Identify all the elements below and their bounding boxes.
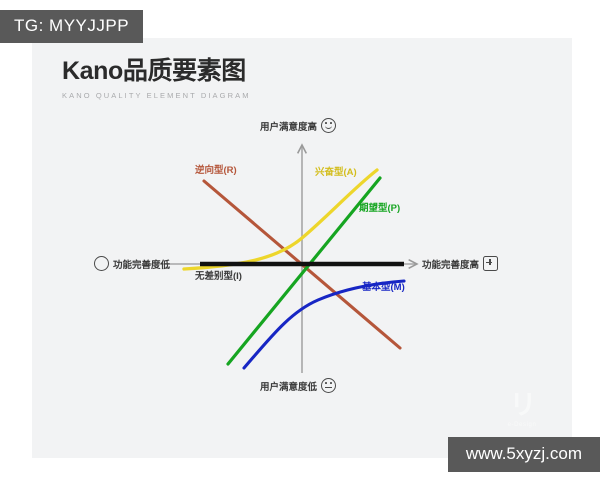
axis-label-satisfaction-high: 用户满意度高 (260, 118, 336, 133)
axis-label-satisfaction-low: 用户满意度低 (260, 378, 336, 393)
axis-label-satisfaction-low-text: 用户满意度低 (260, 379, 317, 393)
tg-tag-overlay: TG: MYYJJPP (0, 10, 143, 43)
axis-label-satisfaction-high-text: 用户满意度高 (260, 119, 317, 133)
kano-diagram: 用户满意度高 用户满意度低 功能完善度低 功能完善度高 逆向型(R) 兴奋型(A… (32, 38, 572, 458)
curve-label-must-be-M: 基本型(M) (362, 279, 405, 293)
axis-label-functionality-high-text: 功能完善度高 (422, 257, 479, 271)
axis-label-functionality-low: 功能完善度低 (94, 256, 170, 271)
site-watermark-overlay: www.5xyzj.com (448, 437, 600, 472)
kano-poster-card: Kano品质要素图 KANO QUALITY ELEMENT DIAGRAM (32, 38, 572, 458)
smiley-face-icon (321, 118, 336, 133)
neutral-face-icon (321, 378, 336, 393)
curve-must-be-M (244, 281, 404, 368)
circle-outline-icon (94, 256, 109, 271)
curve-performance-P (228, 178, 380, 364)
curve-label-attractive-A: 兴奋型(A) (315, 164, 357, 178)
axis-label-functionality-low-text: 功能完善度低 (113, 257, 170, 271)
curve-label-reverse-R: 逆向型(R) (195, 162, 237, 176)
axis-label-functionality-high: 功能完善度高 (422, 256, 498, 271)
kano-chart-svg (32, 38, 572, 458)
curve-label-indifferent-I: 无差别型(I) (195, 268, 242, 282)
curve-label-performance-P: 期望型(P) (359, 200, 400, 214)
square-plus-icon (483, 256, 498, 271)
